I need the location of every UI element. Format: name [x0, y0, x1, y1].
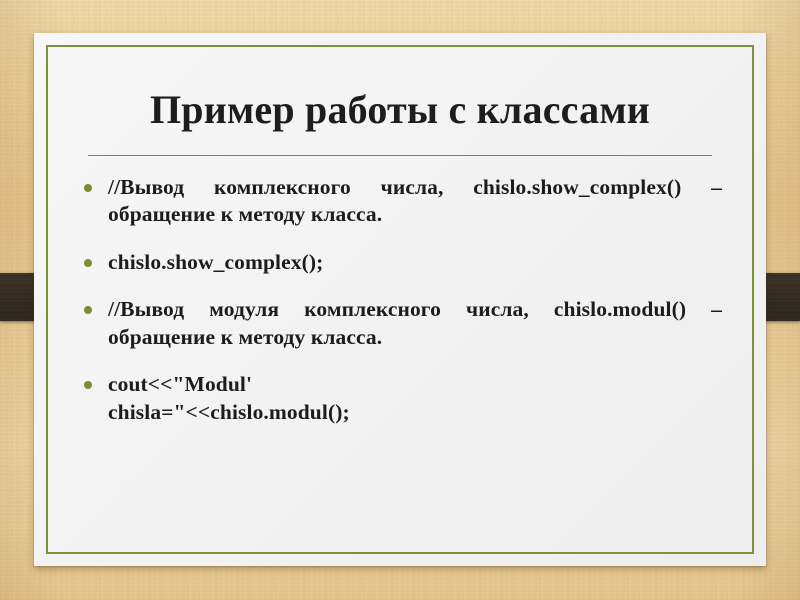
bullet-item-1: //Вывод комплексного числа, chislo.show_…: [78, 174, 722, 229]
bullet-item-3-text: //Вывод модуля комплексного числа, chisl…: [108, 296, 722, 351]
bullet-item-2-text: chislo.show_complex();: [108, 249, 722, 277]
slide-title: Пример работы с классами: [108, 87, 692, 133]
bullet-item-4: cout<<"Modul' chisla="<<chislo.modul();: [78, 371, 722, 426]
slide-card: Пример работы с классами //Вывод комплек…: [34, 33, 766, 566]
bullet-item-2: chislo.show_complex();: [78, 249, 722, 277]
bullet-dot-icon: [84, 184, 92, 192]
bullet-item-4-text: cout<<"Modul' chisla="<<chislo.modul();: [108, 371, 722, 426]
bullet-dot-icon: [84, 306, 92, 314]
bullet-item-3: //Вывод модуля комплексного числа, chisl…: [78, 296, 722, 351]
bullet-item-1-text: //Вывод комплексного числа, chislo.show_…: [108, 174, 722, 229]
bullet-dot-icon: [84, 381, 92, 389]
slide-content: Пример работы с классами //Вывод комплек…: [78, 57, 722, 544]
bullet-list: //Вывод комплексного числа, chislo.show_…: [78, 174, 722, 427]
bullet-dot-icon: [84, 259, 92, 267]
title-divider-rule: [88, 155, 712, 156]
